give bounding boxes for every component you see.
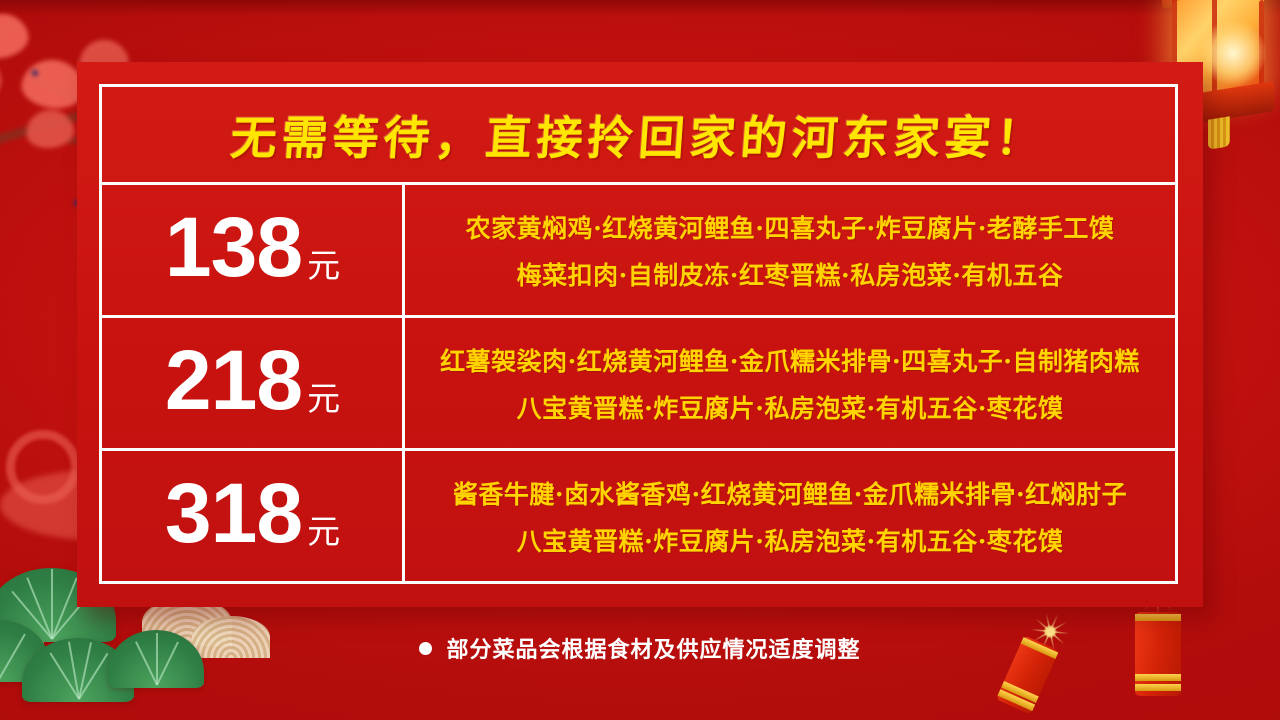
price-unit: 元 <box>307 251 339 281</box>
price-value: 218 元 <box>165 342 339 419</box>
page-title: 无需等待，直接拎回家的河东家宴！ <box>228 102 1049 168</box>
menu-panel: 无需等待，直接拎回家的河东家宴！ 138 元 农家黄焖鸡·红烧黄河鲤鱼·四喜丸子… <box>77 62 1203 607</box>
dish-list-cell: 红薯袈裟肉·红烧黄河鲤鱼·金爪糯米排骨·四喜丸子·自制猪肉糕 八宝黄晋糕·炸豆腐… <box>405 318 1175 448</box>
menu-row[interactable]: 138 元 农家黄焖鸡·红烧黄河鲤鱼·四喜丸子·炸豆腐片·老酵手工馍 梅菜扣肉·… <box>102 185 1175 318</box>
menu-frame: 无需等待，直接拎回家的河东家宴！ 138 元 农家黄焖鸡·红烧黄河鲤鱼·四喜丸子… <box>99 84 1178 584</box>
price-unit: 元 <box>307 517 339 547</box>
price-cell: 218 元 <box>102 318 405 448</box>
footer-note-text: 部分菜品会根据食材及供应情况适度调整 <box>446 632 860 664</box>
price-number: 318 <box>165 475 302 552</box>
price-value: 138 元 <box>165 209 339 286</box>
menu-row[interactable]: 318 元 酱香牛腱·卤水酱香鸡·红烧黄河鲤鱼·金爪糯米排骨·红焖肘子 八宝黄晋… <box>102 451 1175 581</box>
poster-title-row: 无需等待，直接拎回家的河东家宴！ <box>102 87 1175 185</box>
dish-line: 酱香牛腱·卤水酱香鸡·红烧黄河鲤鱼·金爪糯米排骨·红焖肘子 <box>453 475 1127 511</box>
dish-line: 八宝黄晋糕·炸豆腐片·私房泡菜·有机五谷·枣花馍 <box>517 522 1064 558</box>
price-cell: 138 元 <box>102 185 405 315</box>
dish-line: 红薯袈裟肉·红烧黄河鲤鱼·金爪糯米排骨·四喜丸子·自制猪肉糕 <box>440 342 1140 378</box>
price-cell: 318 元 <box>102 451 405 581</box>
price-unit: 元 <box>307 384 339 414</box>
footer-note: 部分菜品会根据食材及供应情况适度调整 <box>0 632 1280 664</box>
dish-line: 八宝黄晋糕·炸豆腐片·私房泡菜·有机五谷·枣花馍 <box>517 389 1064 425</box>
price-number: 218 <box>165 342 302 419</box>
menu-row[interactable]: 218 元 红薯袈裟肉·红烧黄河鲤鱼·金爪糯米排骨·四喜丸子·自制猪肉糕 八宝黄… <box>102 318 1175 451</box>
dish-list-cell: 酱香牛腱·卤水酱香鸡·红烧黄河鲤鱼·金爪糯米排骨·红焖肘子 八宝黄晋糕·炸豆腐片… <box>405 451 1175 581</box>
dish-line: 梅菜扣肉·自制皮冻·红枣晋糕·私房泡菜·有机五谷 <box>517 256 1064 292</box>
dish-list-cell: 农家黄焖鸡·红烧黄河鲤鱼·四喜丸子·炸豆腐片·老酵手工馍 梅菜扣肉·自制皮冻·红… <box>405 185 1175 315</box>
bullet-dot-icon <box>419 642 432 655</box>
price-value: 318 元 <box>165 475 339 552</box>
dish-line: 农家黄焖鸡·红烧黄河鲤鱼·四喜丸子·炸豆腐片·老酵手工馍 <box>466 209 1115 245</box>
price-number: 138 <box>165 209 302 286</box>
